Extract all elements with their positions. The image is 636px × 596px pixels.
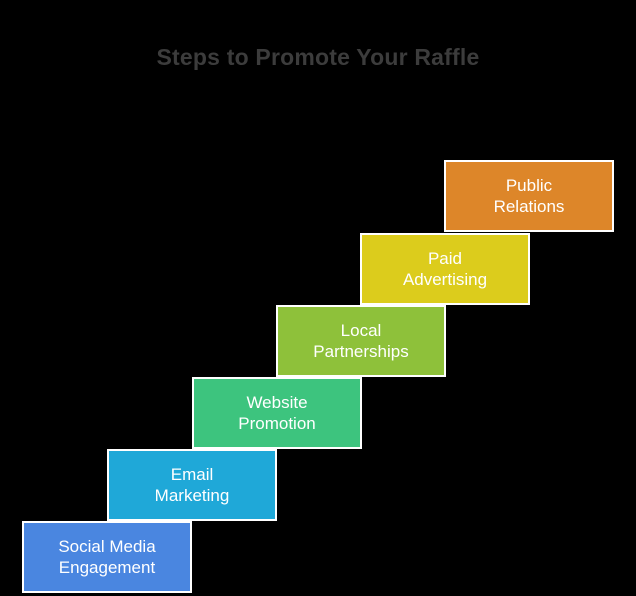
staircase-container: Social Media EngagementEmail MarketingWe… — [0, 0, 636, 596]
step-block[interactable]: Website Promotion — [192, 377, 362, 449]
step-block[interactable]: Email Marketing — [107, 449, 277, 521]
diagram-canvas: Steps to Promote Your Raffle Social Medi… — [0, 0, 636, 596]
step-block[interactable]: Paid Advertising — [360, 233, 530, 305]
step-label: Email Marketing — [149, 464, 236, 506]
step-label: Social Media Engagement — [52, 536, 161, 578]
step-label: Public Relations — [488, 175, 571, 217]
step-label: Local Partnerships — [307, 320, 414, 362]
step-block[interactable]: Public Relations — [444, 160, 614, 232]
step-block[interactable]: Social Media Engagement — [22, 521, 192, 593]
step-label: Paid Advertising — [397, 248, 493, 290]
step-block[interactable]: Local Partnerships — [276, 305, 446, 377]
step-label: Website Promotion — [232, 392, 321, 434]
